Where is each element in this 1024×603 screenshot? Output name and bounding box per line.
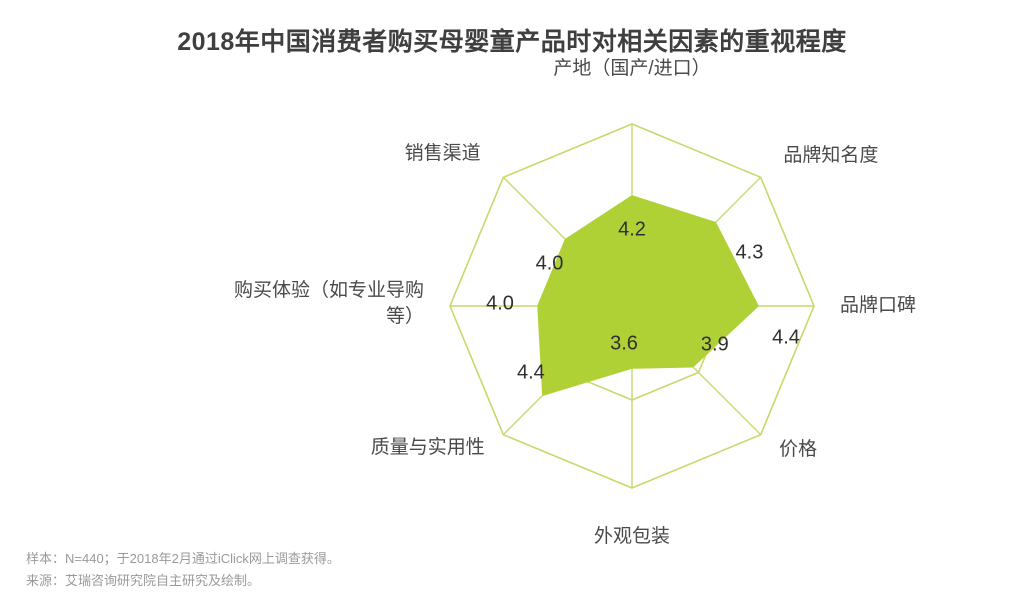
radar-value-label-5: 3.6 [610,333,638,356]
radar-value-label-1: 4.2 [618,219,646,242]
radar-value-label-4: 3.9 [701,333,729,356]
radar-axis-label-3: 品牌口碑 [840,293,916,319]
radar-axis-label-1: 产地（国产/进口） [553,56,710,82]
radar-axis-label-7: 购买体验（如专业导购 等） [234,278,424,329]
radar-axis-label-5: 外观包装 [594,524,670,550]
radar-axis-label-2: 品牌知名度 [783,143,878,169]
radar-series-area [538,196,758,395]
footnote-source: 来源：艾瑞咨询研究院自主研究及绘制。 [26,570,340,593]
radar-data-polygon [538,196,758,395]
radar-axis-label-8: 销售渠道 [405,141,481,167]
radar-value-label-7: 4.0 [486,293,514,316]
footnote-sample: 样本：N=440；于2018年2月通过iClick网上调查获得。 [26,548,340,571]
radar-value-label-2: 4.3 [736,241,764,264]
radar-value-label-8: 4.0 [536,252,564,275]
footnotes: 样本：N=440；于2018年2月通过iClick网上调查获得。 来源：艾瑞咨询… [26,548,340,594]
radar-value-label-6: 4.4 [517,362,545,385]
radar-axis-label-6: 质量与实用性 [371,435,485,461]
radar-value-label-3: 4.4 [772,327,800,350]
radar-axis-label-4: 价格 [779,437,817,463]
